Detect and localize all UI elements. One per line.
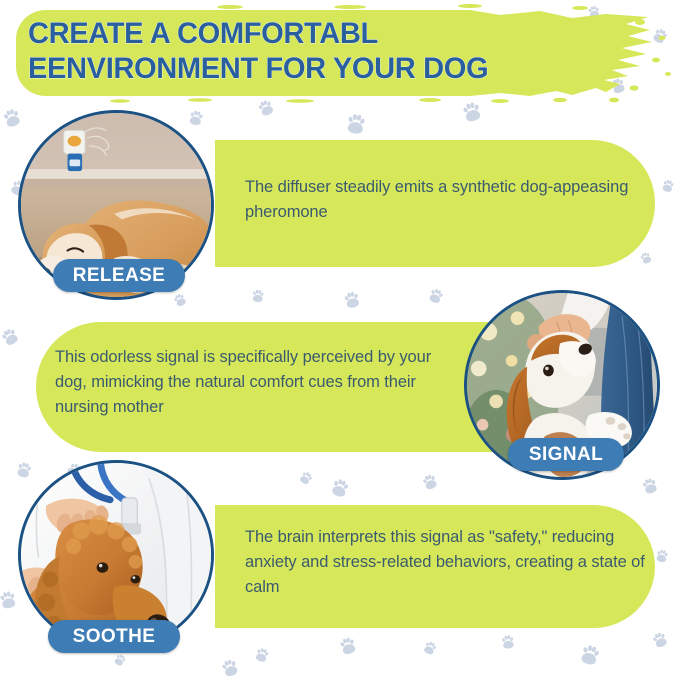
step-3-badge: SOOTHE	[48, 620, 180, 653]
page-title-line-1: CREATE A COMFORTABL	[28, 16, 610, 51]
step-3-description: The brain interprets this signal as "saf…	[245, 525, 650, 600]
step-1-badge: RELEASE	[53, 259, 185, 292]
step-1-description: The diffuser steadily emits a synthetic …	[245, 175, 645, 225]
page-title-line-2: EENVIRONMENT FOR YOUR DOG	[28, 51, 610, 86]
step-2-description: This odorless signal is specifically per…	[55, 345, 455, 420]
page-title: CREATE A COMFORTABL EENVIRONMENT FOR YOU…	[28, 16, 610, 86]
infographic-root: CREATE A COMFORTABL EENVIRONMENT FOR YOU…	[0, 0, 679, 679]
step-2-badge: SIGNAL	[508, 438, 624, 471]
